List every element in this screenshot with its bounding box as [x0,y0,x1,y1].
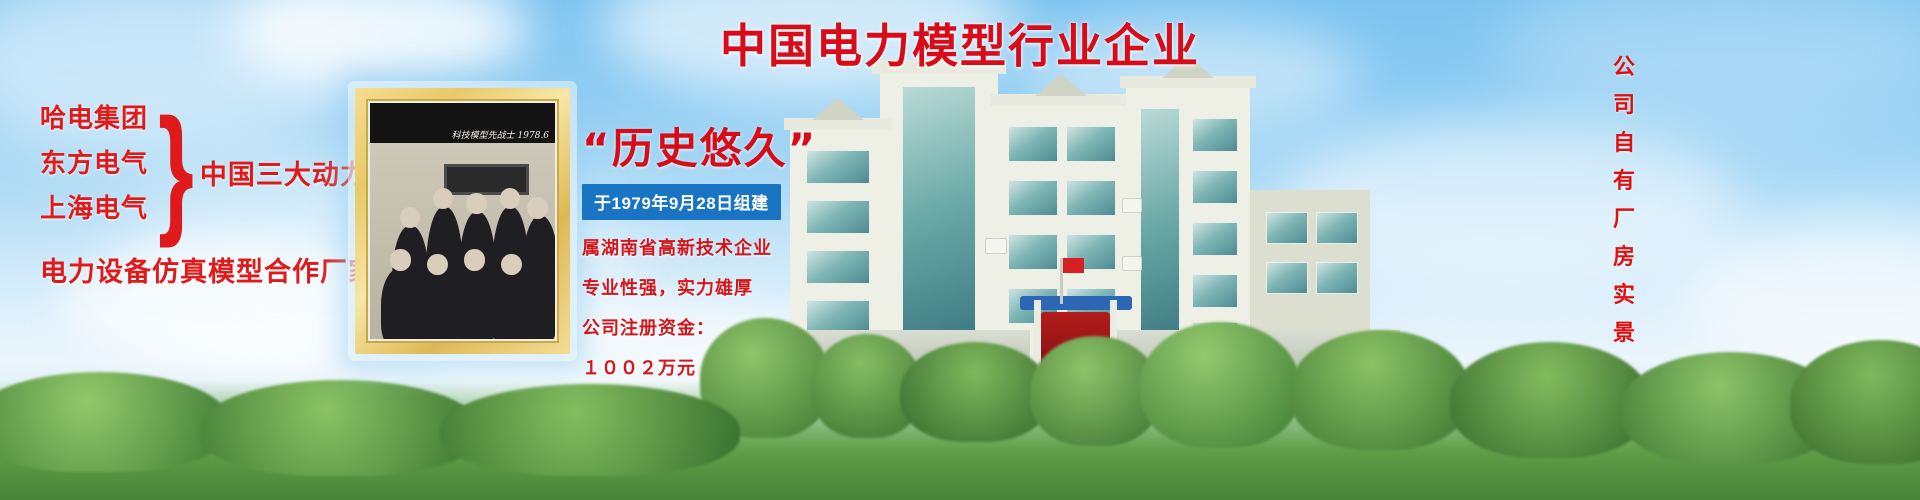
left-text-block: 哈电集团 东方电气 上海电气 } 中国三大动力 电力设备仿真模型合作厂家 [40,105,380,289]
vertical-char: 公 [1613,56,1635,78]
flag [1062,258,1084,273]
vertical-char: 自 [1613,132,1635,154]
middle-text-block: “历史悠久” 于1979年9月28日组建 属湖南省高新技术企业 专业性强，实力雄… [582,128,842,380]
brace-label: 中国三大动力 [200,153,368,192]
vertical-char: 厂 [1613,208,1635,230]
right-vertical-caption: 公 司 自 有 厂 房 实 景 [1613,56,1635,360]
list-item: 东方电气 [40,150,148,176]
vertical-char: 实 [1613,284,1635,306]
founding-date-badge: 于1979年9月28日组建 [582,184,781,220]
highlight-quote: “历史悠久” [582,128,842,170]
historic-group-photo: 科技模型先战士 1978.6 [370,103,555,339]
bush [1140,322,1300,448]
vertical-char: 司 [1613,94,1635,116]
photo-banner-text: 科技模型先战士 1978.6 [452,128,549,141]
vertical-char: 景 [1613,322,1635,344]
list-item: 上海电气 [40,195,148,221]
detail-line: １００２万元 [582,354,842,380]
bush [200,380,480,476]
vertical-char: 房 [1613,246,1635,268]
detail-line: 专业性强，实力雄厚 [582,274,842,300]
bush [440,384,740,476]
list-item: 哈电集团 [40,105,148,131]
photo-banner: 科技模型先战士 1978.6 [370,103,555,143]
detail-line: 公司注册资金： [582,314,842,340]
vertical-char: 有 [1613,170,1635,192]
promotional-banner: 中国电力模型行业企业 哈电集团 东方电气 上海电气 } 中国三大动力 电力设备仿… [0,0,1920,500]
detail-line: 属湖南省高新技术企业 [582,234,842,260]
photo-frame-inner: 科技模型先战士 1978.6 [366,99,559,343]
bush [1290,330,1470,450]
photo-frame: 科技模型先战士 1978.6 [355,88,570,354]
left-bottom-line: 电力设备仿真模型合作厂家 [40,250,380,289]
brace-group: 哈电集团 东方电气 上海电气 } 中国三大动力 [40,105,380,240]
company-name-list: 哈电集团 东方电气 上海电气 [40,105,148,240]
bush [900,342,1050,442]
